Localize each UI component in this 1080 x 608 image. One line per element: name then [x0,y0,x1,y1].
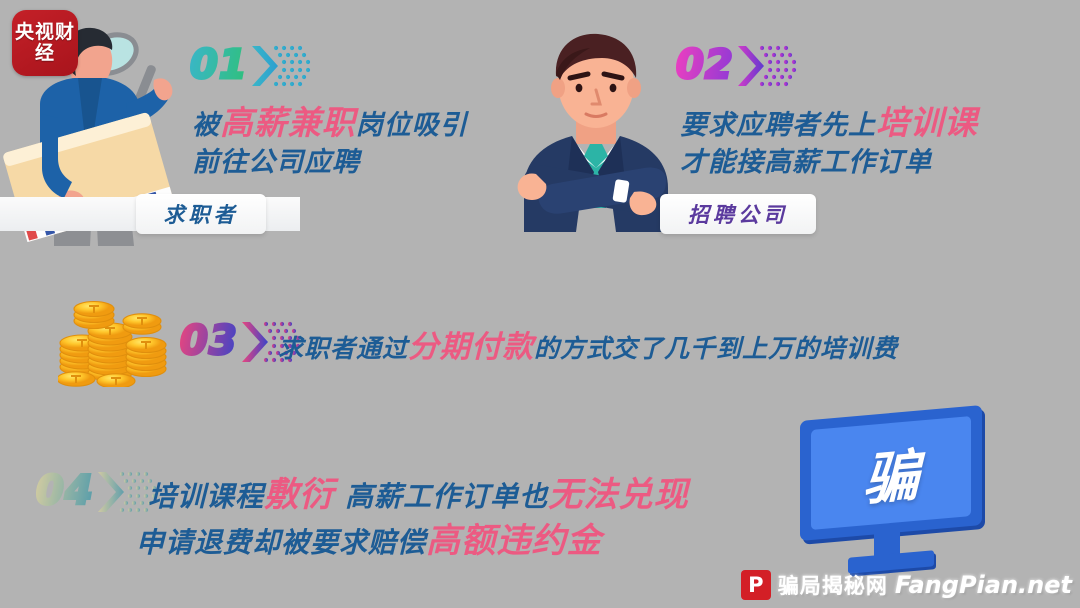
watermark-logo-icon: P [741,570,771,600]
step-01-text-emph: 高薪兼职 [220,103,356,142]
step-02-text-emph: 培训课 [876,103,978,142]
step-04-text-emph-c: 高额违约金 [426,521,602,561]
step-04-text-plain-b: 高薪工作订单也 [334,480,548,513]
step-number-02: 02 [676,42,796,88]
badge-recruiting-company-label: 招聘公司 [688,199,788,229]
step-04-text-emph-b: 无法兑现 [548,475,689,515]
badge-recruiting-company: 招聘公司 [660,194,816,234]
step-04-line-1: 培训课程敷衍 高薪工作订单也无法兑现 [148,466,689,516]
monitor-screen-text: 骗 [863,430,919,516]
infographic-canvas: 01 被高薪兼职岗位吸引 前往公司应聘 [0,0,1080,608]
step-03-text-emph: 分期付款 [408,330,534,365]
step-03-line-1: 求职者通过分期付款的方式交了几千到上万的培训费 [278,322,898,366]
step-number-04: 04 [36,468,156,514]
cctv-finance-logo-text: 央视财经 [12,22,78,64]
illustration-monitor: 骗 [800,413,986,578]
watermark-logo-letter: P [748,575,763,596]
step-04-text-plain-c: 申请退费却被要求赔偿 [136,526,426,559]
badge-job-seeker-label: 求职者 [164,199,239,229]
step-04-text-plain-a: 培训课程 [148,480,264,513]
badge-job-seeker: 求职者 [136,194,266,234]
step-01-line-2: 前往公司应聘 [192,140,360,179]
step-01-line-1: 被高薪兼职岗位吸引 [192,97,468,144]
step-02-line-1: 要求应聘者先上培训课 [680,97,978,144]
step-02-text-plain: 要求应聘者先上 [680,110,876,141]
monitor-screen: 骗 [811,416,971,530]
watermark-cn-text: 骗局揭秘网 [778,570,888,600]
step-number-01: 01 [190,42,310,88]
step-04-line-2: 申请退费却被要求赔偿高额违约金 [136,512,602,562]
illustration-gold-coins [58,295,176,387]
chevron-dots-icon-04 [96,468,156,514]
cctv-finance-logo: 央视财经 [12,10,78,76]
step-04-text-emph-a: 敷衍 [264,475,334,515]
watermark: P 骗局揭秘网 FangPian.net [741,570,1072,600]
step-03-text-plain-b: 的方式交了几千到上万的培训费 [534,334,898,363]
step-02-line-2: 才能接高薪工作订单 [680,140,932,179]
chevron-dots-icon-02 [736,42,796,88]
chevron-dots-icon-01 [250,42,310,88]
step-01-text-plain-a: 被 [192,110,220,141]
watermark-en-text: FangPian.net [895,571,1072,599]
step-03-text-plain-a: 求职者通过 [278,334,408,363]
step-01-text-plain-b: 岗位吸引 [356,110,468,141]
